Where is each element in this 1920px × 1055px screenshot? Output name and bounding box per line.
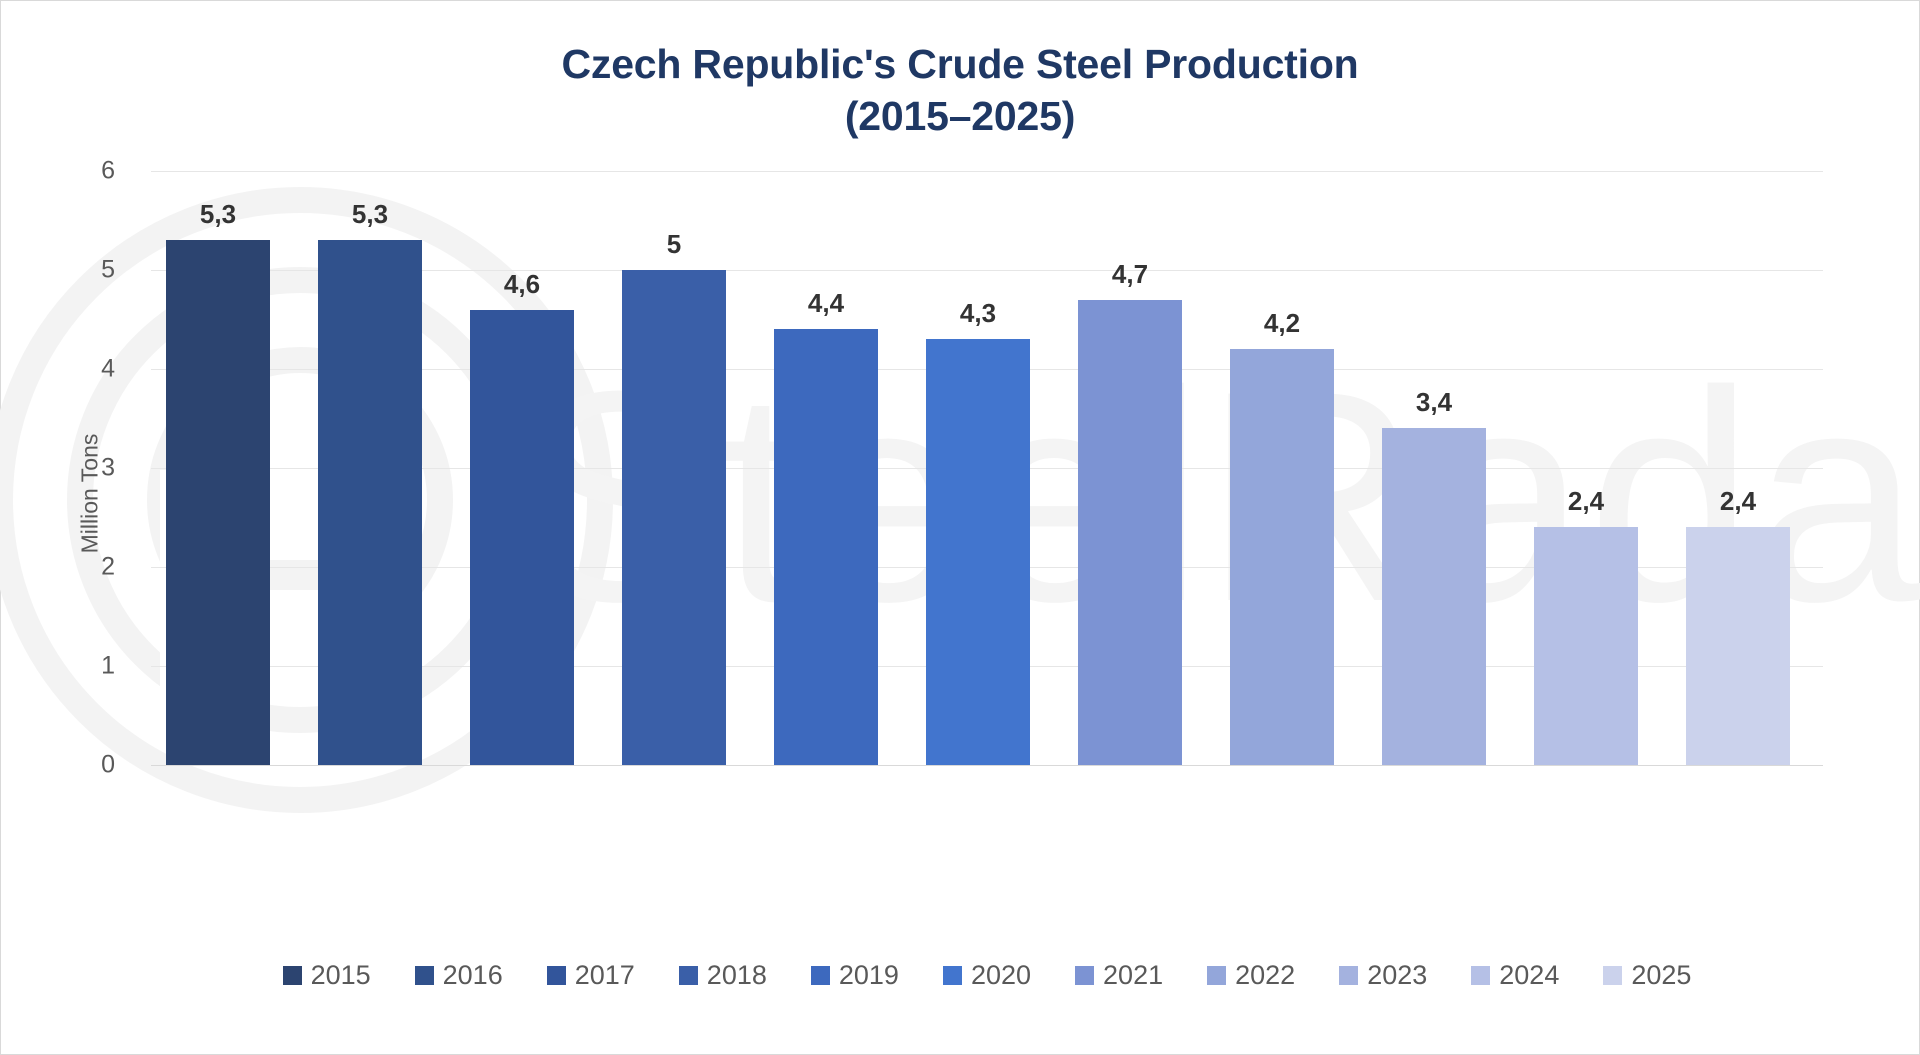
bar-value-label: 5,3: [166, 199, 270, 230]
legend-item-2023[interactable]: 2023: [1339, 960, 1427, 991]
legend-item-label: 2020: [971, 960, 1031, 991]
bar-2015[interactable]: 5,3: [166, 240, 270, 765]
bar-value-label: 5: [622, 229, 726, 260]
legend-item-label: 2024: [1499, 960, 1559, 991]
chart-title: Czech Republic's Crude Steel Production …: [0, 38, 1920, 142]
chart-screenshot: SteelRadar Czech Republic's Crude Steel …: [0, 0, 1920, 1055]
bar-value-label: 5,3: [318, 199, 422, 230]
bar-2018[interactable]: 5: [622, 270, 726, 765]
legend-item-2016[interactable]: 2016: [415, 960, 503, 991]
bar-value-label: 2,4: [1534, 486, 1638, 517]
legend-item-label: 2023: [1367, 960, 1427, 991]
bar-2016[interactable]: 5,3: [318, 240, 422, 765]
bar-rect[interactable]: [1230, 349, 1334, 765]
bar-2021[interactable]: 4,7: [1078, 300, 1182, 765]
legend-item-2022[interactable]: 2022: [1207, 960, 1295, 991]
legend-item-label: 2021: [1103, 960, 1163, 991]
bar-rect[interactable]: [926, 339, 1030, 765]
legend-swatch-icon: [811, 966, 830, 985]
legend-item-2015[interactable]: 2015: [283, 960, 371, 991]
chart-legend: 2015201620172018201920202021202220232024…: [151, 960, 1823, 991]
bar-rect[interactable]: [774, 329, 878, 765]
legend-swatch-icon: [1471, 966, 1490, 985]
bar-rect[interactable]: [470, 310, 574, 765]
legend-item-2020[interactable]: 2020: [943, 960, 1031, 991]
bar-value-label: 4,3: [926, 298, 1030, 329]
legend-swatch-icon: [415, 966, 434, 985]
bar-2025[interactable]: 2,4: [1686, 527, 1790, 765]
bar-rect[interactable]: [1382, 428, 1486, 765]
bar-2023[interactable]: 3,4: [1382, 428, 1486, 765]
legend-item-label: 2016: [443, 960, 503, 991]
bar-value-label: 4,7: [1078, 259, 1182, 290]
chart-title-line1: Czech Republic's Crude Steel Production: [0, 38, 1920, 90]
legend-item-label: 2019: [839, 960, 899, 991]
chart-title-line2: (2015–2025): [0, 90, 1920, 142]
bar-value-label: 2,4: [1686, 486, 1790, 517]
bar-series: 5,35,34,654,44,34,74,23,42,42,4: [0, 0, 1920, 1055]
bar-rect[interactable]: [318, 240, 422, 765]
legend-swatch-icon: [1075, 966, 1094, 985]
legend-item-label: 2017: [575, 960, 635, 991]
legend-item-2021[interactable]: 2021: [1075, 960, 1163, 991]
legend-swatch-icon: [1339, 966, 1358, 985]
bar-value-label: 4,4: [774, 288, 878, 319]
legend-item-2018[interactable]: 2018: [679, 960, 767, 991]
bar-rect[interactable]: [1534, 527, 1638, 765]
bar-rect[interactable]: [622, 270, 726, 765]
bar-2024[interactable]: 2,4: [1534, 527, 1638, 765]
bar-2020[interactable]: 4,3: [926, 339, 1030, 765]
legend-item-label: 2022: [1235, 960, 1295, 991]
bar-rect[interactable]: [1078, 300, 1182, 765]
legend-swatch-icon: [679, 966, 698, 985]
bar-value-label: 3,4: [1382, 387, 1486, 418]
legend-swatch-icon: [547, 966, 566, 985]
bar-value-label: 4,6: [470, 269, 574, 300]
bar-2019[interactable]: 4,4: [774, 329, 878, 765]
legend-item-label: 2018: [707, 960, 767, 991]
legend-item-2025[interactable]: 2025: [1603, 960, 1691, 991]
bar-rect[interactable]: [1686, 527, 1790, 765]
bar-2017[interactable]: 4,6: [470, 310, 574, 765]
legend-swatch-icon: [943, 966, 962, 985]
legend-item-2017[interactable]: 2017: [547, 960, 635, 991]
legend-item-label: 2015: [311, 960, 371, 991]
legend-item-2024[interactable]: 2024: [1471, 960, 1559, 991]
bar-value-label: 4,2: [1230, 308, 1334, 339]
plot-area: Million Tons 6543210 5,35,34,654,44,34,7…: [0, 0, 1920, 1055]
legend-item-2019[interactable]: 2019: [811, 960, 899, 991]
legend-swatch-icon: [283, 966, 302, 985]
bar-rect[interactable]: [166, 240, 270, 765]
bar-2022[interactable]: 4,2: [1230, 349, 1334, 765]
legend-item-label: 2025: [1631, 960, 1691, 991]
legend-swatch-icon: [1603, 966, 1622, 985]
legend-swatch-icon: [1207, 966, 1226, 985]
